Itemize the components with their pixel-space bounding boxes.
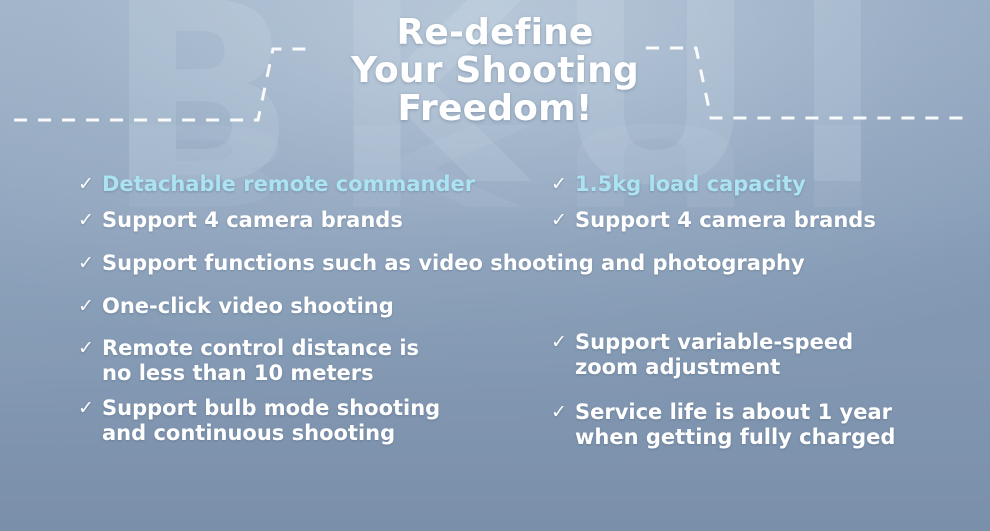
list-item-label: Detachable remote commander [102, 172, 475, 197]
page-title: Re-define Your Shooting Freedom! [0, 14, 990, 128]
check-icon: ✓ [551, 330, 575, 355]
list-item: ✓ Support 4 camera brands [551, 208, 876, 233]
list-item-label: Remote control distance is no less than … [102, 336, 419, 386]
list-item-label: 1.5kg load capacity [575, 172, 806, 197]
check-icon: ✓ [551, 172, 575, 197]
check-icon: ✓ [78, 208, 102, 233]
check-icon: ✓ [551, 208, 575, 233]
list-item-label: Support variable-speed zoom adjustment [575, 330, 853, 380]
list-item: ✓ Service life is about 1 year when gett… [551, 400, 895, 450]
title-line-3: Freedom! [0, 90, 990, 128]
list-item: ✓ One-click video shooting [78, 294, 394, 319]
list-item-label: Support functions such as video shooting… [102, 251, 805, 276]
list-item-label: Support 4 camera brands [102, 208, 403, 233]
list-item: ✓ Detachable remote commander [78, 172, 475, 197]
check-icon: ✓ [78, 336, 102, 361]
list-item-label: Service life is about 1 year when gettin… [575, 400, 895, 450]
check-icon: ✓ [78, 251, 102, 276]
list-item-label: One-click video shooting [102, 294, 394, 319]
title-line-2: Your Shooting [0, 52, 990, 90]
list-item-label: Support 4 camera brands [575, 208, 876, 233]
feature-lists: ✓ Detachable remote commander ✓ Support … [0, 170, 990, 470]
list-item: ✓ Support variable-speed zoom adjustment [551, 330, 853, 380]
check-icon: ✓ [78, 172, 102, 197]
title-line-1: Re-define [0, 14, 990, 52]
check-icon: ✓ [78, 396, 102, 421]
check-icon: ✓ [551, 400, 575, 425]
list-item: ✓ Support bulb mode shooting and continu… [78, 396, 440, 446]
list-item: ✓ Support functions such as video shooti… [78, 251, 805, 276]
promo-banner: BKUI BKUI Re-define Your Shooting Freedo… [0, 0, 990, 531]
check-icon: ✓ [78, 294, 102, 319]
list-item: ✓ Remote control distance is no less tha… [78, 336, 419, 386]
list-item: ✓ Support 4 camera brands [78, 208, 403, 233]
list-item: ✓ 1.5kg load capacity [551, 172, 806, 197]
list-item-label: Support bulb mode shooting and continuou… [102, 396, 440, 446]
